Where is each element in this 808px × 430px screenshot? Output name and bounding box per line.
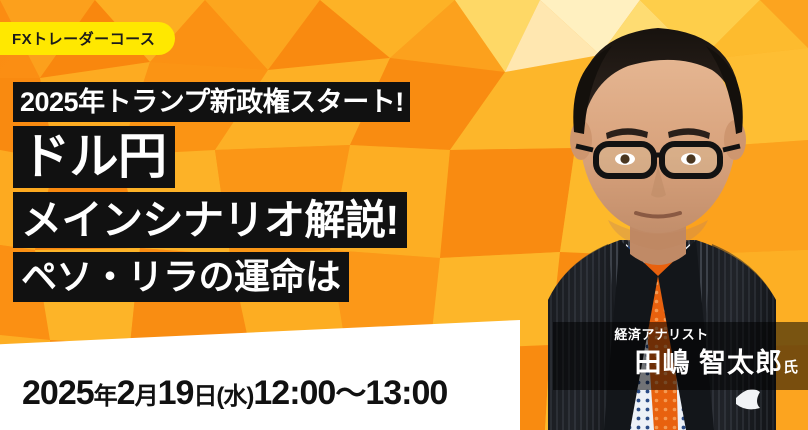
- schedule-month: 2: [117, 374, 135, 412]
- headline-line-3: メインシナリオ解説!: [13, 192, 407, 248]
- headline-row-1: 2025年トランプ新政権スタート!: [13, 82, 533, 122]
- headline-line-2: ドル円: [13, 126, 175, 188]
- headline-row-3: メインシナリオ解説!: [13, 192, 533, 248]
- schedule-year-unit: 年: [94, 383, 117, 410]
- headline-line-1: 2025年トランプ新政権スタート!: [13, 82, 410, 122]
- speaker-nameplate: 経済アナリスト 田嶋 智太郎氏: [553, 322, 808, 390]
- seminar-banner: FXトレーダーコース 2025年トランプ新政権スタート! ドル円 メインシナリオ…: [0, 0, 808, 430]
- headline-line-4: ペソ・リラの運命は: [13, 252, 349, 302]
- speaker-honorific: 氏: [783, 359, 798, 376]
- schedule-day: 19: [158, 374, 194, 412]
- schedule-month-unit: 月: [135, 383, 158, 410]
- schedule-date-time: 2025年2月19日(水)12:00〜13:00: [22, 368, 447, 413]
- headline-row-4: ペソ・リラの運命は: [13, 252, 533, 302]
- headline-block: 2025年トランプ新政権スタート! ドル円 メインシナリオ解説! ペソ・リラの運…: [13, 82, 533, 306]
- schedule-time-start: 12:00: [253, 374, 335, 412]
- schedule-time-end: 13:00: [365, 374, 447, 412]
- schedule-year: 2025: [22, 374, 94, 412]
- speaker-name: 田嶋 智太郎: [634, 348, 783, 378]
- schedule-weekday: (水): [216, 383, 253, 410]
- course-badge: FXトレーダーコース: [0, 22, 175, 55]
- course-badge-label: FXトレーダーコース: [12, 28, 155, 49]
- speaker-name-row: 田嶋 智太郎氏: [553, 343, 798, 388]
- schedule-time-separator: 〜: [335, 376, 365, 411]
- speaker-role: 経済アナリスト: [553, 327, 770, 343]
- headline-row-2: ドル円: [13, 126, 533, 188]
- schedule-day-unit: 日: [193, 383, 216, 410]
